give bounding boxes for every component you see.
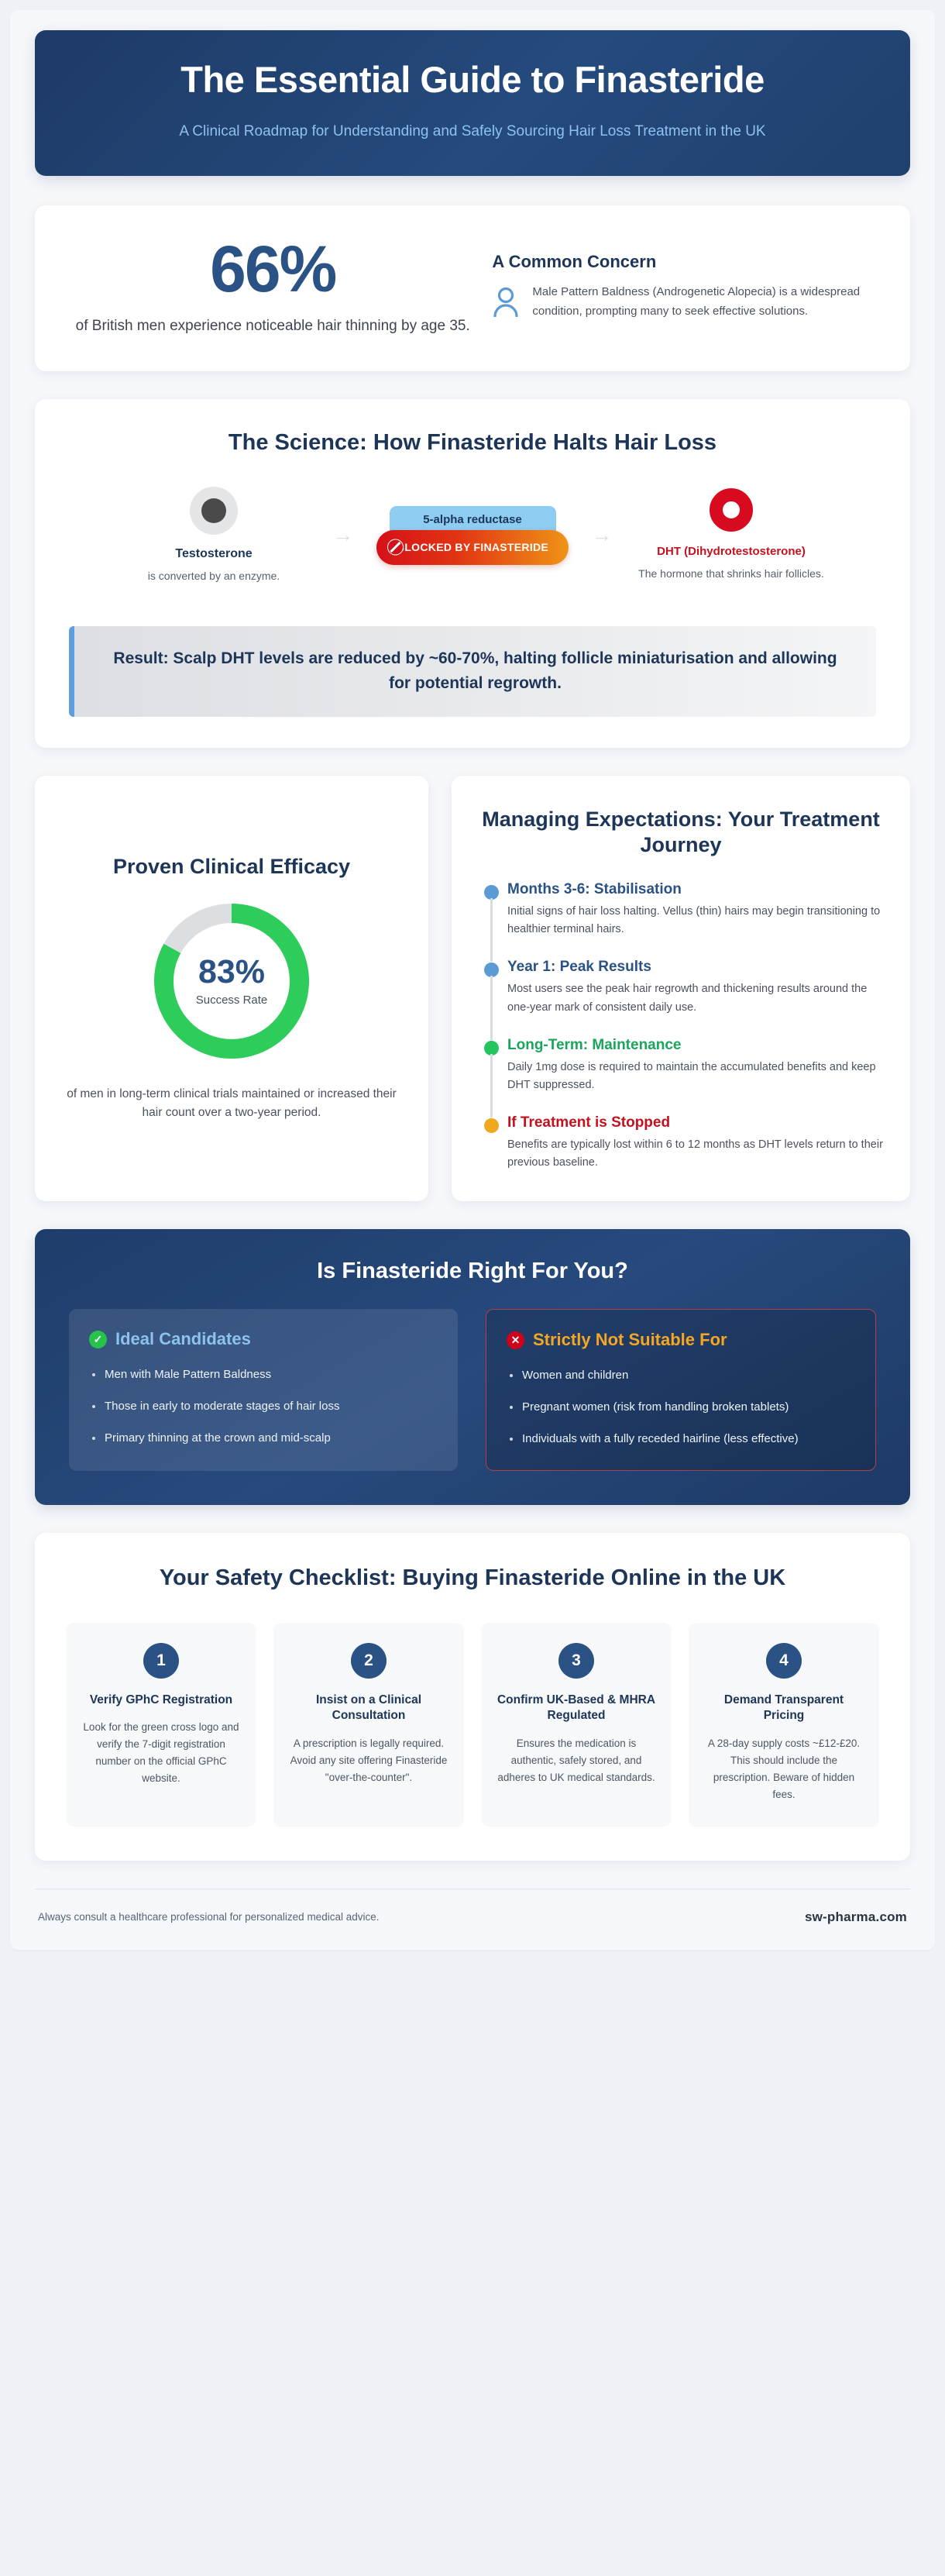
ideal-candidates-title: Ideal Candidates [115, 1329, 251, 1349]
donut-center: 83% Success Rate [174, 923, 290, 1039]
hero-banner: The Essential Guide to Finasteride A Cli… [35, 30, 910, 176]
arrow-right-icon-1: → [321, 523, 365, 547]
blocked-label: BLOCKED BY FINASTERIDE [397, 541, 548, 553]
common-concern-title: A Common Concern [492, 252, 870, 272]
timeline-item-title: Months 3-6: Stabilisation [507, 881, 884, 898]
testosterone-icon [190, 487, 238, 535]
page-subtitle: A Clinical Roadmap for Understanding and… [81, 121, 864, 143]
checklist-card-title: Confirm UK-Based & MHRA Regulated [495, 1693, 658, 1725]
list-item: Pregnant women (risk from handling broke… [507, 1399, 855, 1417]
checklist-step-number: 3 [558, 1643, 594, 1679]
stat-section: 66% of British men experience noticeable… [35, 205, 910, 371]
checklist-grid: 1Verify GPhC RegistrationLook for the gr… [66, 1623, 879, 1827]
list-item: Women and children [507, 1367, 855, 1385]
checklist-card-title: Demand Transparent Pricing [703, 1693, 865, 1725]
checklist-card: 4Demand Transparent PricingA 28-day supp… [689, 1623, 879, 1827]
result-text: Result: Scalp DHT levels are reduced by … [101, 646, 850, 695]
timeline-item-desc: Daily 1mg dose is required to maintain t… [507, 1059, 884, 1094]
checklist-step-number: 2 [351, 1643, 387, 1679]
journey-section: Managing Expectations: Your Treatment Jo… [452, 776, 910, 1201]
footer-disclaimer: Always consult a healthcare professional… [38, 1911, 379, 1923]
testosterone-label: Testosterone [109, 547, 318, 561]
treatment-timeline: Months 3-6: StabilisationInitial signs o… [478, 881, 884, 1173]
common-concern-block: A Common Concern Male Pattern Baldness (… [492, 252, 870, 321]
efficacy-journey-row: Proven Clinical Efficacy 83% Success Rat… [35, 776, 910, 1201]
science-heading: The Science: How Finasteride Halts Hair … [69, 430, 876, 456]
person-icon [492, 286, 520, 321]
timeline-item: Long-Term: MaintenanceDaily 1mg dose is … [501, 1037, 884, 1114]
timeline-item-desc: Most users see the peak hair regrowth an… [507, 980, 884, 1016]
efficacy-caption: of men in long-term clinical trials main… [66, 1085, 397, 1124]
list-item: Primary thinning at the crown and mid-sc… [89, 1430, 438, 1448]
efficacy-heading: Proven Clinical Efficacy [66, 855, 397, 879]
no-entry-icon [387, 539, 404, 556]
checklist-card-title: Verify GPhC Registration [80, 1693, 242, 1709]
not-suitable-card: ✕ Strictly Not Suitable For Women and ch… [486, 1309, 876, 1470]
donut-percent: 83% [198, 956, 265, 989]
result-callout: Result: Scalp DHT levels are reduced by … [69, 626, 876, 717]
journey-heading: Managing Expectations: Your Treatment Jo… [478, 807, 884, 858]
x-circle-icon: ✕ [507, 1331, 524, 1349]
blocked-badge: BLOCKED BY FINASTERIDE [376, 530, 569, 565]
timeline-item-title: If Treatment is Stopped [507, 1114, 884, 1131]
enzyme-node: 5-alpha reductase BLOCKED BY FINASTERIDE [368, 506, 577, 565]
checklist-card-title: Insist on a Clinical Consultation [287, 1693, 450, 1725]
check-circle-icon: ✓ [89, 1331, 107, 1348]
not-suitable-list: Women and childrenPregnant women (risk f… [507, 1367, 855, 1448]
arrow-right-icon-2: → [580, 523, 624, 547]
timeline-item: If Treatment is StoppedBenefits are typi… [501, 1114, 884, 1172]
page-footer: Always consult a healthcare professional… [35, 1889, 910, 1942]
efficacy-section: Proven Clinical Efficacy 83% Success Rat… [35, 776, 428, 1201]
timeline-item: Year 1: Peak ResultsMost users see the p… [501, 959, 884, 1036]
timeline-item: Months 3-6: StabilisationInitial signs o… [501, 881, 884, 959]
checklist-step-number: 1 [143, 1643, 179, 1679]
ideal-candidates-card: ✓ Ideal Candidates Men with Male Pattern… [69, 1309, 458, 1470]
timeline-item-desc: Benefits are typically lost within 6 to … [507, 1136, 884, 1172]
ideal-candidates-list: Men with Male Pattern BaldnessThose in e… [89, 1366, 438, 1447]
testosterone-desc: is converted by an enzyme. [109, 567, 318, 584]
science-section: The Science: How Finasteride Halts Hair … [35, 399, 910, 748]
donut-label: Success Rate [196, 994, 268, 1007]
checklist-card-desc: A prescription is legally required. Avoi… [287, 1735, 450, 1786]
dht-ring-icon [710, 488, 753, 532]
mechanism-diagram: Testosterone is converted by an enzyme. … [69, 487, 876, 591]
checklist-heading: Your Safety Checklist: Buying Finasterid… [66, 1564, 879, 1593]
list-item: Men with Male Pattern Baldness [89, 1366, 438, 1384]
checklist-card: 3Confirm UK-Based & MHRA RegulatedEnsure… [481, 1623, 672, 1827]
dht-desc: The hormone that shrinks hair follicles. [627, 565, 836, 582]
testosterone-node: Testosterone is converted by an enzyme. [109, 487, 318, 584]
checklist-card-desc: Ensures the medication is authentic, saf… [495, 1735, 658, 1786]
stat-caption: of British men experience noticeable hai… [75, 315, 470, 337]
suitability-section: Is Finasteride Right For You? ✓ Ideal Ca… [35, 1229, 910, 1504]
checklist-step-number: 4 [766, 1643, 802, 1679]
list-item: Those in early to moderate stages of hai… [89, 1398, 438, 1416]
dht-node: DHT (Dihydrotestosterone) The hormone th… [627, 488, 836, 583]
timeline-item-title: Year 1: Peak Results [507, 959, 884, 976]
dht-label: DHT (Dihydrotestosterone) [627, 544, 836, 560]
footer-brand[interactable]: sw-pharma.com [805, 1910, 907, 1925]
infographic-page: The Essential Guide to Finasteride A Cli… [10, 10, 935, 1950]
timeline-item-title: Long-Term: Maintenance [507, 1037, 884, 1054]
stat-value: 66% [75, 236, 470, 301]
success-rate-donut-chart: 83% Success Rate [154, 904, 309, 1059]
checklist-card-desc: A 28-day supply costs ~£12-£20. This sho… [703, 1735, 865, 1803]
timeline-item-desc: Initial signs of hair loss halting. Vell… [507, 903, 884, 938]
checklist-card: 2Insist on a Clinical ConsultationA pres… [273, 1623, 464, 1827]
enzyme-label: 5-alpha reductase [390, 506, 556, 533]
page-title: The Essential Guide to Finasteride [81, 60, 864, 101]
checklist-section: Your Safety Checklist: Buying Finasterid… [35, 1533, 910, 1861]
suitability-heading: Is Finasteride Right For You? [69, 1259, 876, 1284]
checklist-card-desc: Look for the green cross logo and verify… [80, 1719, 242, 1786]
not-suitable-title: Strictly Not Suitable For [533, 1330, 727, 1350]
stat-figure: 66% of British men experience noticeable… [75, 236, 484, 337]
list-item: Individuals with a fully receded hairlin… [507, 1431, 855, 1448]
checklist-card: 1Verify GPhC RegistrationLook for the gr… [66, 1623, 256, 1827]
common-concern-text: Male Pattern Baldness (Androgenetic Alop… [532, 283, 870, 321]
